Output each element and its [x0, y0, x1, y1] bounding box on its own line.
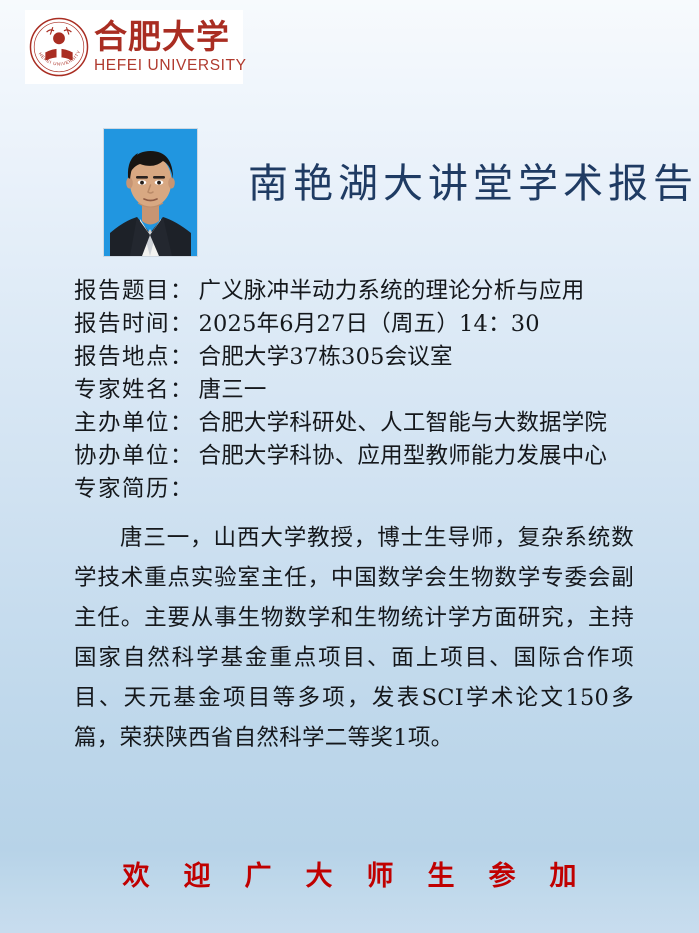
speaker-biography-text: 唐三一，山西大学教授，博士生导师，复杂系统数学技术重点实验室主任，中国数学会生物…: [74, 518, 634, 758]
speaker-portrait-photo: [103, 128, 198, 257]
info-value: 唐三一: [199, 374, 267, 407]
info-colon: ：: [170, 440, 199, 473]
info-colon: ：: [170, 473, 199, 506]
logo-english-name: HEFEI UNIVERSITY: [94, 58, 247, 74]
info-label: 专家简历: [74, 473, 170, 506]
lecture-info-list: 报告题目 ： 广义脉冲半动力系统的理论分析与应用 报告时间 ： 2025年6月2…: [74, 275, 654, 506]
logo-wordmark: 合肥大学 HEFEI UNIVERSITY: [94, 20, 247, 74]
info-row-datetime: 报告时间 ： 2025年6月27日（周五）14：30: [74, 308, 654, 341]
info-label: 协办单位: [74, 440, 170, 473]
info-label: 报告题目: [74, 275, 170, 308]
info-colon: ：: [170, 341, 199, 374]
university-logo-band: HEFEI UNIVERSITY 合肥大学 HEFEI UNIVERSITY: [25, 10, 243, 84]
info-value: 合肥大学科协、应用型教师能力发展中心: [199, 440, 608, 473]
info-colon: ：: [170, 407, 199, 440]
info-row-co-organizer: 协办单位 ： 合肥大学科协、应用型教师能力发展中心: [74, 440, 654, 473]
info-row-speaker-name: 专家姓名 ： 唐三一: [74, 374, 654, 407]
info-value: 2025年6月27日（周五）14：30: [199, 308, 540, 341]
info-row-organizer: 主办单位 ： 合肥大学科研处、人工智能与大数据学院: [74, 407, 654, 440]
info-value: 合肥大学科研处、人工智能与大数据学院: [199, 407, 608, 440]
info-colon: ：: [170, 275, 199, 308]
info-colon: ：: [170, 374, 199, 407]
info-row-venue: 报告地点 ： 合肥大学37栋305会议室: [74, 341, 654, 374]
info-label: 报告地点: [74, 341, 170, 374]
info-label: 专家姓名: [74, 374, 170, 407]
info-label: 主办单位: [74, 407, 170, 440]
info-row-topic: 报告题目 ： 广义脉冲半动力系统的理论分析与应用: [74, 275, 654, 308]
portrait-illustration: [104, 129, 197, 256]
info-value: 合肥大学37栋305会议室: [199, 341, 453, 374]
page-title: 南艳湖大讲堂学术报告: [248, 151, 698, 209]
info-value: 广义脉冲半动力系统的理论分析与应用: [199, 275, 585, 308]
poster-page: HEFEI UNIVERSITY 合肥大学 HEFEI UNIVERSITY: [0, 0, 699, 933]
info-label: 报告时间: [74, 308, 170, 341]
hefei-university-emblem-icon: HEFEI UNIVERSITY: [28, 16, 90, 78]
info-row-biography-heading: 专家简历 ：: [74, 473, 654, 506]
info-colon: ：: [170, 308, 199, 341]
poster-header: 南艳湖大讲堂学术报告: [0, 127, 699, 261]
logo-chinese-name: 合肥大学: [94, 20, 247, 53]
welcome-message: 欢迎广大师生参加: [0, 854, 699, 893]
